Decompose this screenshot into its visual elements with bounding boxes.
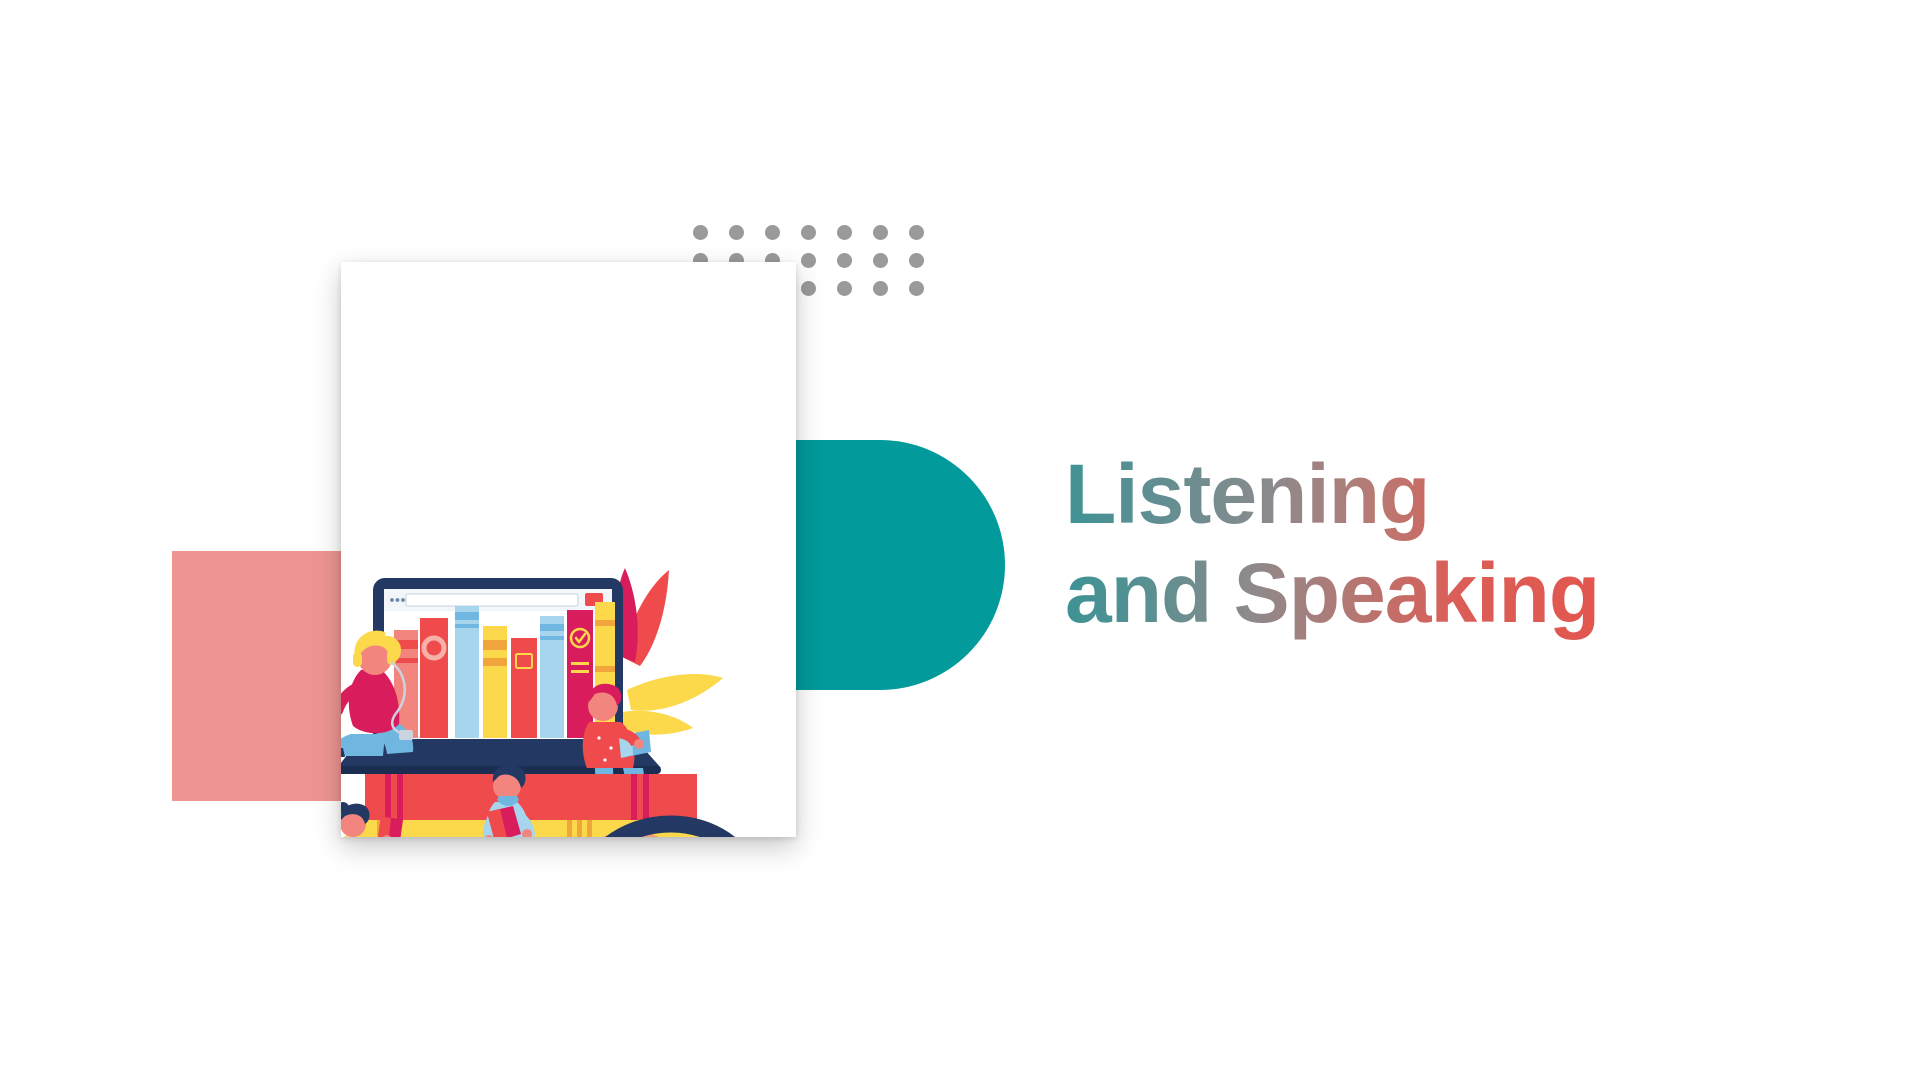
teal-half-round-shape bbox=[795, 440, 1005, 690]
grid-dot bbox=[837, 253, 852, 268]
leaves-decoration bbox=[616, 568, 723, 735]
white-card bbox=[341, 262, 796, 837]
title-line-2: and Speaking bbox=[1065, 544, 1599, 643]
grid-dot bbox=[801, 281, 816, 296]
page-title: Listening and Speaking bbox=[1065, 445, 1599, 643]
grid-dot bbox=[909, 253, 924, 268]
grid-dot bbox=[873, 225, 888, 240]
grid-dot bbox=[801, 253, 816, 268]
slide-canvas: Listening and Speaking bbox=[0, 0, 1920, 1080]
grid-dot bbox=[729, 225, 744, 240]
title-line-1: Listening bbox=[1065, 445, 1599, 544]
grid-dot bbox=[801, 225, 816, 240]
grid-dot bbox=[873, 253, 888, 268]
grid-dot bbox=[765, 225, 780, 240]
grid-dot bbox=[693, 225, 708, 240]
grid-dot bbox=[909, 225, 924, 240]
grid-dot bbox=[837, 225, 852, 240]
grid-dot bbox=[873, 281, 888, 296]
grid-dot bbox=[909, 281, 924, 296]
online-library-illustration bbox=[341, 562, 796, 837]
grid-dot bbox=[837, 281, 852, 296]
